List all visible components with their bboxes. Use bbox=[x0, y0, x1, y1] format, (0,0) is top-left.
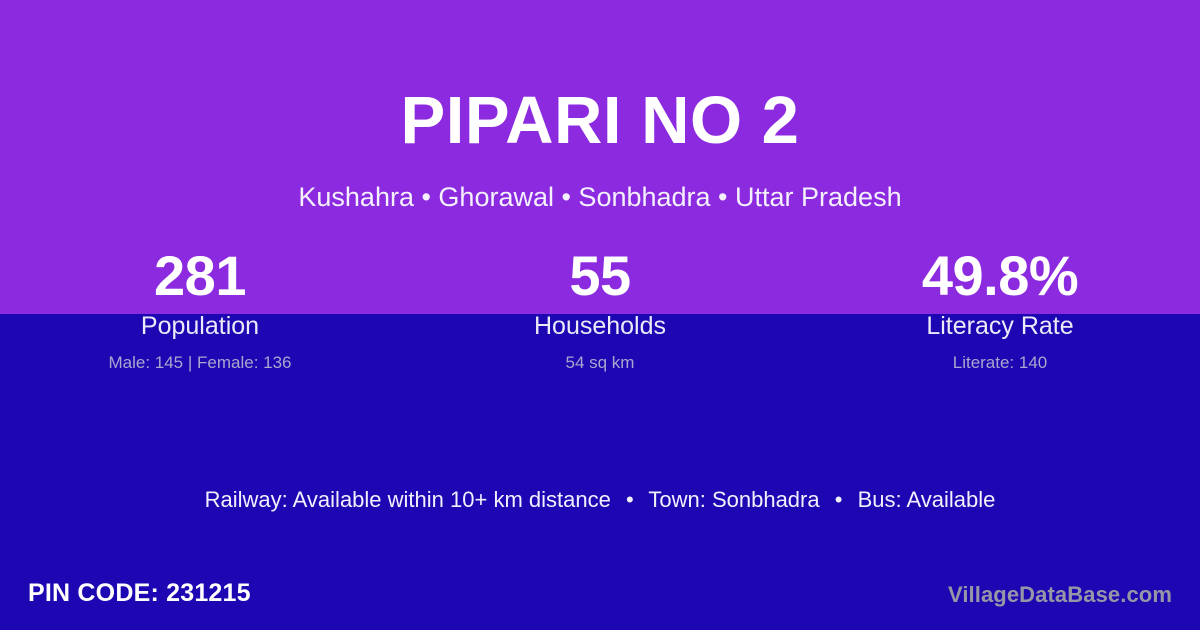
stat-value-households: 55 bbox=[400, 243, 800, 309]
stat-label-literacy-rate: Literacy Rate bbox=[800, 311, 1200, 341]
brand-watermark: VillageDataBase.com bbox=[948, 580, 1172, 610]
stat-households: 55 Households 54 sq km bbox=[400, 243, 800, 375]
breadcrumb: Kushahra • Ghorawal • Sonbhadra • Uttar … bbox=[0, 183, 1200, 213]
pin-code: PIN CODE: 231215 bbox=[28, 576, 251, 610]
page-title: PIPARI NO 2 bbox=[0, 87, 1200, 154]
stat-literacy-rate: 49.8% Literacy Rate Literate: 140 bbox=[800, 243, 1200, 375]
amenity-railway: Railway: Available within 10+ km distanc… bbox=[205, 487, 611, 512]
stats-row: 281 Population Male: 145 | Female: 136 5… bbox=[0, 243, 1200, 375]
stat-value-population: 281 bbox=[0, 243, 400, 309]
stat-value-literacy-rate: 49.8% bbox=[800, 243, 1200, 309]
village-info-card: PIPARI NO 2 Kushahra • Ghorawal • Sonbha… bbox=[0, 0, 1200, 630]
stat-label-population: Population bbox=[0, 311, 400, 341]
amenities-row: Railway: Available within 10+ km distanc… bbox=[0, 486, 1200, 514]
amenity-bus: Bus: Available bbox=[858, 487, 996, 512]
footer: PIN CODE: 231215 VillageDataBase.com bbox=[0, 574, 1200, 630]
amenity-separator: • bbox=[617, 486, 643, 514]
stat-label-households: Households bbox=[400, 311, 800, 341]
amenity-separator: • bbox=[826, 486, 852, 514]
amenity-town: Town: Sonbhadra bbox=[648, 487, 819, 512]
stat-population: 281 Population Male: 145 | Female: 136 bbox=[0, 243, 400, 375]
stat-sub-literacy-rate: Literate: 140 bbox=[800, 351, 1200, 375]
stat-sub-households: 54 sq km bbox=[400, 351, 800, 375]
stat-sub-population: Male: 145 | Female: 136 bbox=[0, 351, 400, 375]
